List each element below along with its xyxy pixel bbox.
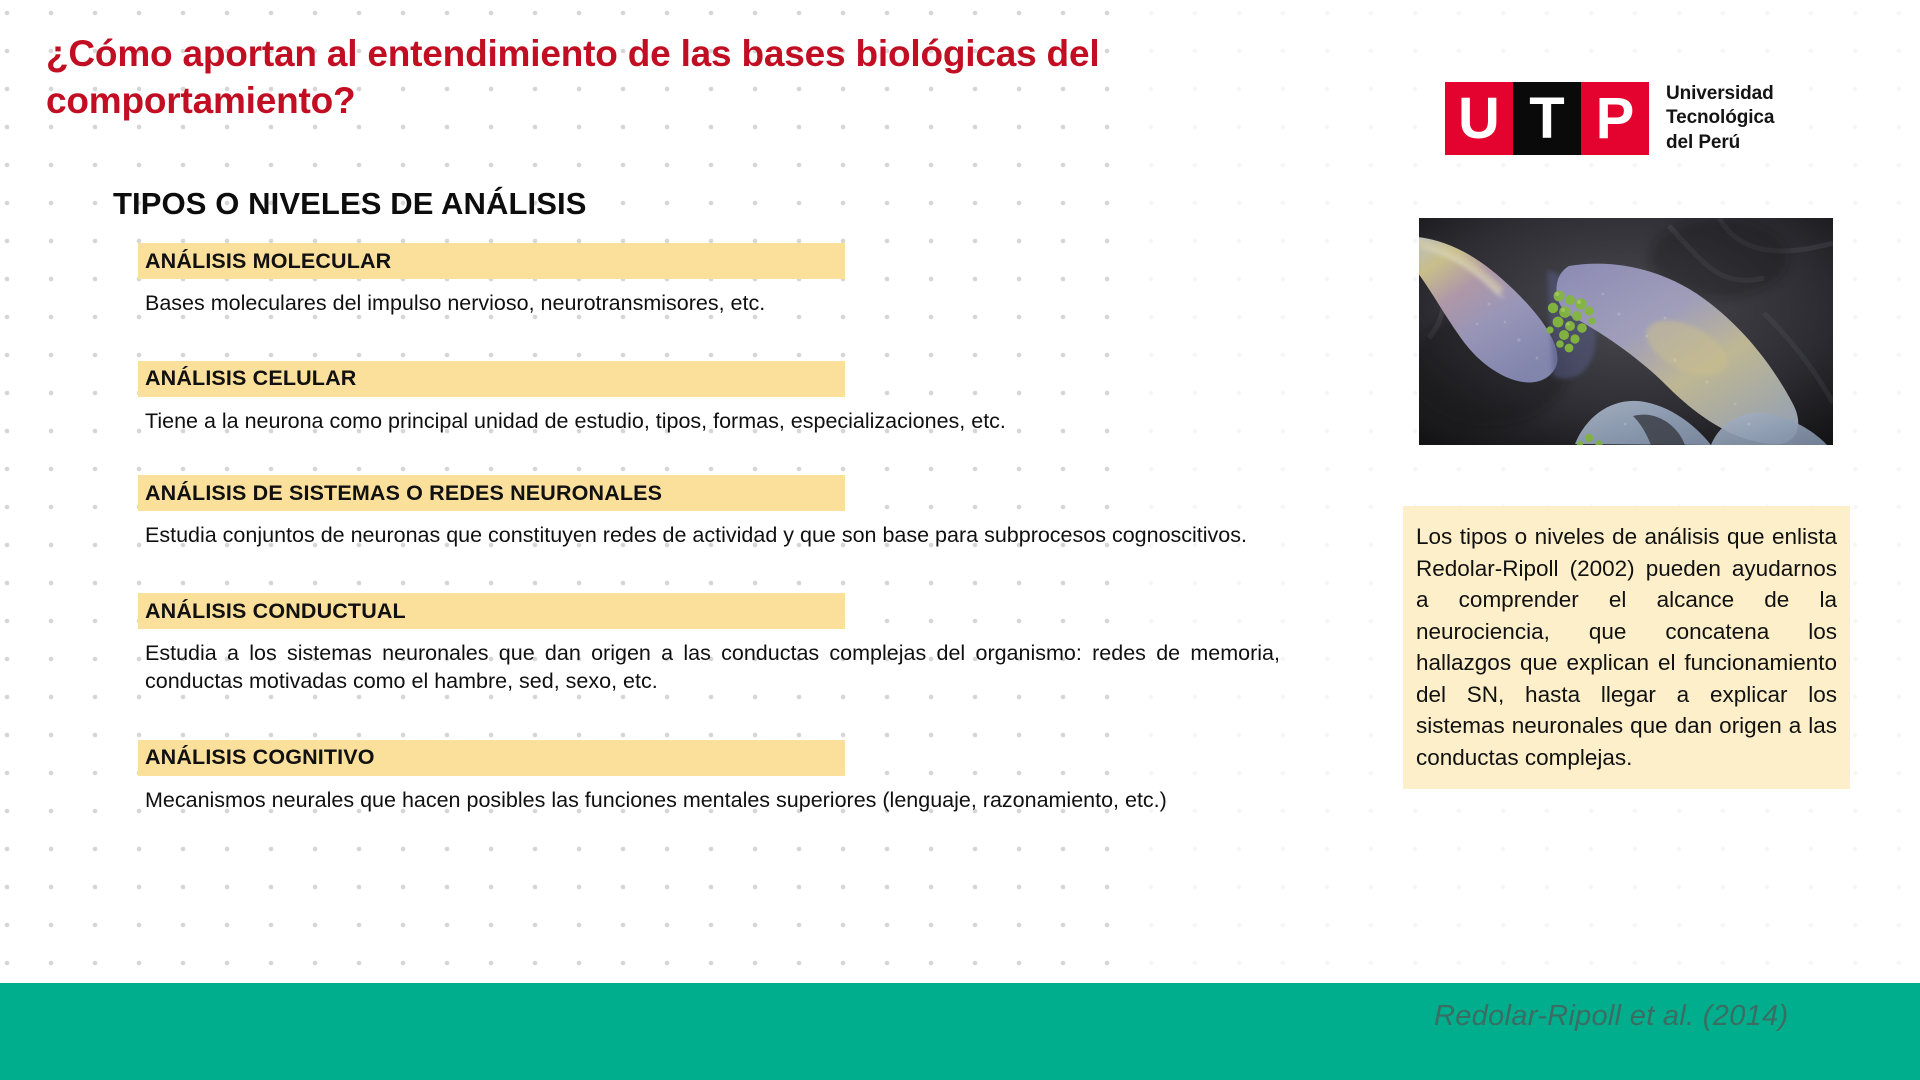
analysis-heading-bar: ANÁLISIS COGNITIVO <box>138 740 845 776</box>
logo-wordmark-line-1: Universidad <box>1666 82 1774 106</box>
analysis-heading-bar: ANÁLISIS CONDUCTUAL <box>138 593 845 629</box>
side-note-panel: Los tipos o niveles de análisis que enli… <box>1403 506 1850 789</box>
utp-logo: U T P Universidad Tecnológica del Perú <box>1445 82 1774 155</box>
analysis-levels-list: ANÁLISIS MOLECULAR Bases moleculares del… <box>138 243 1268 814</box>
analysis-heading-bar: ANÁLISIS CELULAR <box>138 361 845 397</box>
analysis-heading-bar: ANÁLISIS DE SISTEMAS O REDES NEURONALES <box>138 475 845 511</box>
utp-logo-mark: U T P <box>1445 82 1649 155</box>
side-note-text: Los tipos o niveles de análisis que enli… <box>1416 521 1837 773</box>
analysis-body-text: Tiene a la neurona como principal unidad… <box>138 408 1280 436</box>
analysis-body-text: Bases moleculares del impulso nervioso, … <box>138 290 1025 318</box>
page-title: ¿Cómo aportan al entendimiento de las ba… <box>46 30 1116 125</box>
utp-logo-wordmark: Universidad Tecnológica del Perú <box>1666 82 1774 154</box>
logo-letter-t: T <box>1513 82 1581 155</box>
analysis-heading-label: ANÁLISIS MOLECULAR <box>145 249 391 274</box>
analysis-block-sistemas-redes: ANÁLISIS DE SISTEMAS O REDES NEURONALES … <box>138 475 1268 550</box>
logo-wordmark-line-2: Tecnológica <box>1666 106 1774 130</box>
analysis-block-cognitivo: ANÁLISIS COGNITIVO Mecanismos neurales q… <box>138 740 1268 815</box>
synapse-illustration-graphic <box>1419 218 1833 445</box>
analysis-heading-bar: ANÁLISIS MOLECULAR <box>138 243 845 279</box>
footer-citation: Redolar-Ripoll et al. (2014) <box>1434 1000 1788 1033</box>
slide-canvas: ¿Cómo aportan al entendimiento de las ba… <box>0 0 1920 1080</box>
analysis-heading-label: ANÁLISIS COGNITIVO <box>145 745 375 770</box>
analysis-block-molecular: ANÁLISIS MOLECULAR Bases moleculares del… <box>138 243 1268 318</box>
analysis-body-text: Mecanismos neurales que hacen posibles l… <box>138 787 1280 815</box>
analysis-heading-label: ANÁLISIS DE SISTEMAS O REDES NEURONALES <box>145 481 662 506</box>
analysis-body-text: Estudia conjuntos de neuronas que consti… <box>138 522 1280 550</box>
logo-letter-p: P <box>1581 82 1649 155</box>
logo-letter-u: U <box>1445 82 1513 155</box>
section-subtitle: TIPOS O NIVELES DE ANÁLISIS <box>113 186 587 222</box>
analysis-block-celular: ANÁLISIS CELULAR Tiene a la neurona como… <box>138 361 1268 436</box>
analysis-block-conductual: ANÁLISIS CONDUCTUAL Estudia a los sistem… <box>138 593 1268 695</box>
analysis-heading-label: ANÁLISIS CELULAR <box>145 366 356 391</box>
logo-wordmark-line-3: del Perú <box>1666 131 1774 155</box>
analysis-heading-label: ANÁLISIS CONDUCTUAL <box>145 599 406 624</box>
analysis-body-text: Estudia a los sistemas neuronales que da… <box>138 640 1280 695</box>
synapse-illustration-image <box>1419 218 1833 445</box>
